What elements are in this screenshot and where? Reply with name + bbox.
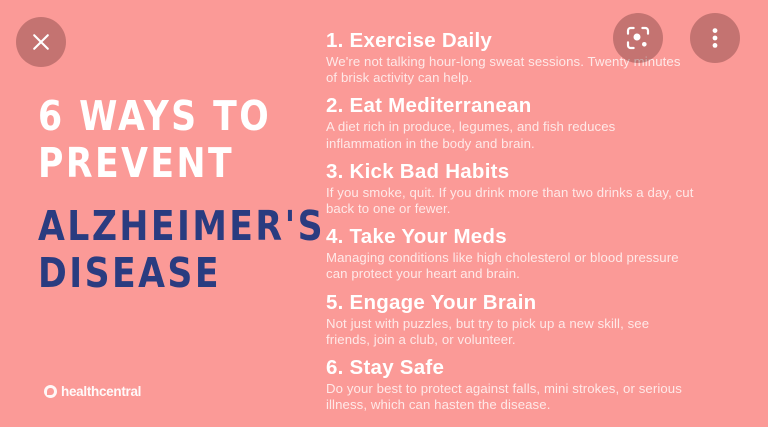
title-line-2: PREVENT bbox=[38, 140, 292, 187]
tip-heading: 2. Eat Mediterranean bbox=[326, 93, 698, 118]
tips-list: 1. Exercise Daily We're not talking hour… bbox=[326, 28, 698, 413]
list-item: 6. Stay Safe Do your best to protect aga… bbox=[326, 355, 698, 413]
list-item: 4. Take Your Meds Managing conditions li… bbox=[326, 224, 698, 282]
tip-body: Not just with puzzles, but try to pick u… bbox=[326, 316, 694, 348]
title-subject: ALZHEIMER'S DISEASE bbox=[38, 203, 308, 297]
list-item: 3. Kick Bad Habits If you smoke, quit. I… bbox=[326, 159, 698, 217]
close-icon bbox=[29, 30, 53, 54]
brand-name: healthcentral bbox=[61, 384, 141, 399]
list-item: 5. Engage Your Brain Not just with puzzl… bbox=[326, 290, 698, 348]
poster-title: 6 WAYS TO PREVENT ALZHEIMER'S DISEASE bbox=[38, 93, 308, 297]
title-line-4: DISEASE bbox=[38, 250, 292, 297]
google-lens-button[interactable] bbox=[613, 13, 663, 63]
image-viewer-screen: { "viewer": { "close_label": "Close", "l… bbox=[0, 0, 768, 427]
brand-logo: healthcentral bbox=[44, 384, 141, 399]
tip-body: A diet rich in produce, legumes, and fis… bbox=[326, 119, 694, 151]
google-lens-icon bbox=[625, 25, 651, 51]
title-line-3: ALZHEIMER'S bbox=[38, 203, 292, 250]
tip-heading: 3. Kick Bad Habits bbox=[326, 159, 698, 184]
tip-heading: 4. Take Your Meds bbox=[326, 224, 698, 249]
tip-body: If you smoke, quit. If you drink more th… bbox=[326, 185, 694, 217]
more-vertical-icon bbox=[704, 27, 726, 49]
more-options-button[interactable] bbox=[690, 13, 740, 63]
close-button[interactable] bbox=[16, 17, 66, 67]
tip-heading: 6. Stay Safe bbox=[326, 355, 698, 380]
tip-body: Do your best to protect against falls, m… bbox=[326, 381, 694, 413]
tip-heading: 5. Engage Your Brain bbox=[326, 290, 698, 315]
tip-body: Managing conditions like high cholestero… bbox=[326, 250, 694, 282]
list-item: 2. Eat Mediterranean A diet rich in prod… bbox=[326, 93, 698, 151]
title-line-1: 6 WAYS TO bbox=[38, 93, 292, 140]
healthcentral-logo-icon bbox=[44, 385, 57, 398]
